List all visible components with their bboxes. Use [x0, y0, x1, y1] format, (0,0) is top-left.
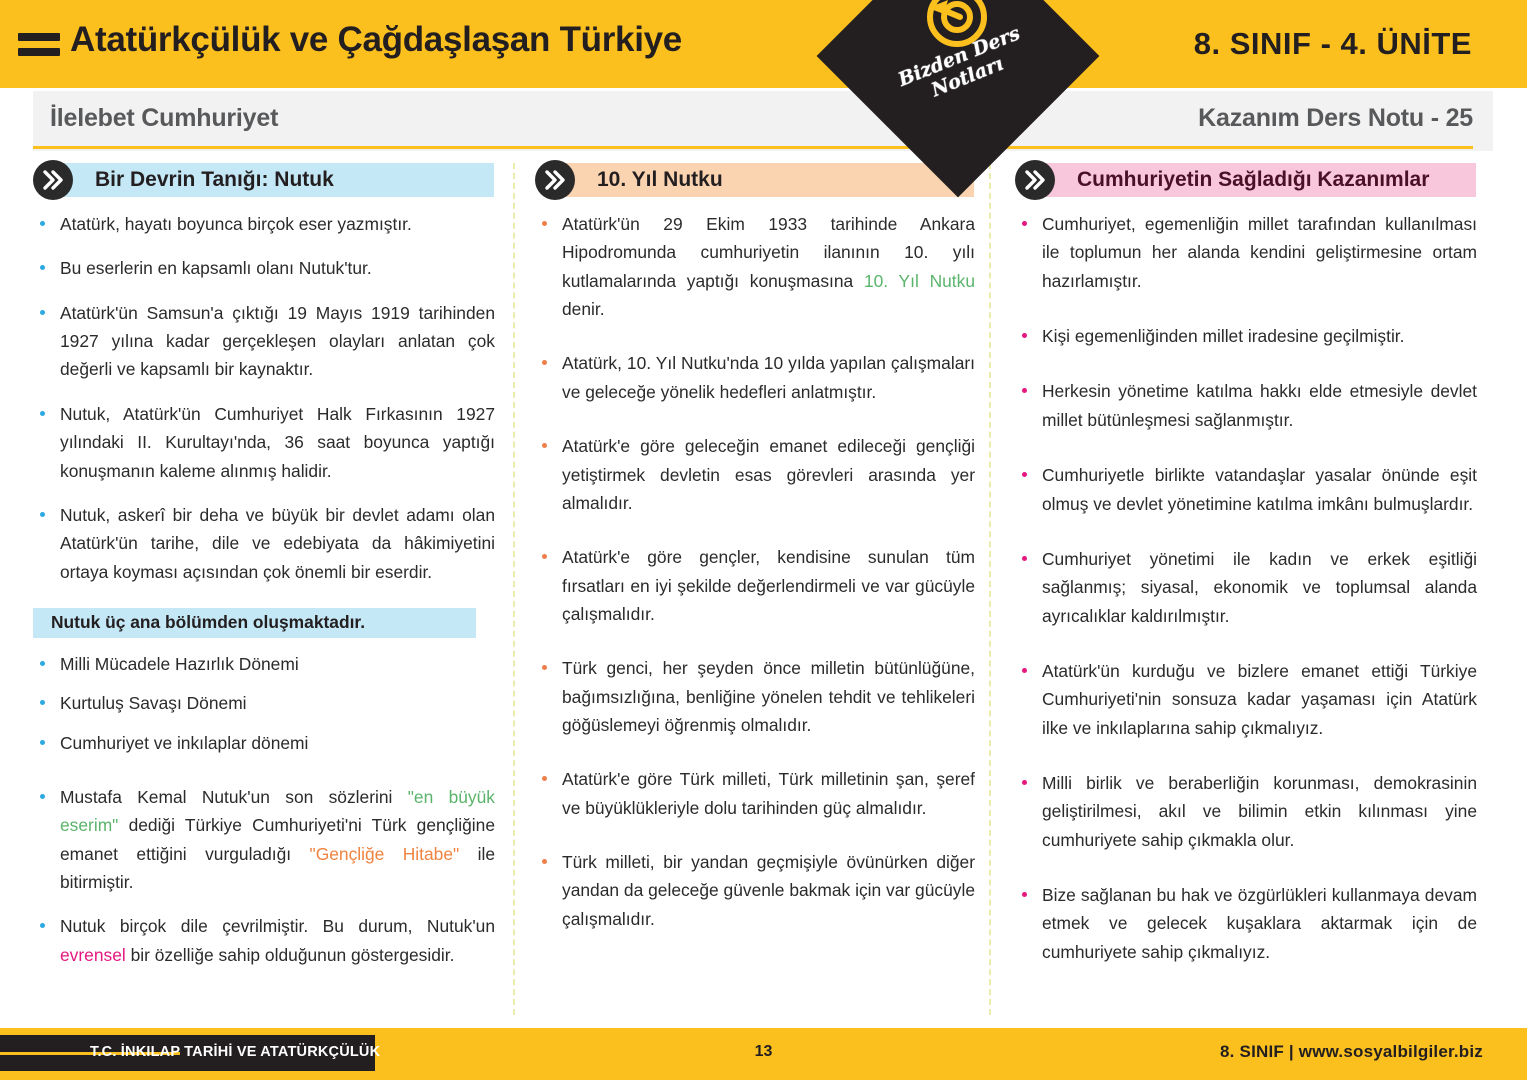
- list-item: Atatürk'ün 29 Ekim 1933 tarihinde Ankara…: [535, 210, 975, 323]
- section-title-10-yil: 10. Yıl Nutku: [559, 163, 974, 197]
- list-item: Atatürk'e göre gençler, kendisine sunula…: [535, 543, 975, 628]
- body-text: Atatürk, 10. Yıl Nutku'nda 10 yılda yapı…: [562, 353, 975, 401]
- list-item: Cumhuriyet, egemenliğin millet tarafında…: [1015, 210, 1477, 295]
- body-text: Atatürk'e göre gençler, kendisine sunula…: [562, 547, 975, 624]
- sub-header-bar: İlelebet Cumhuriyet Kazanım Ders Notu - …: [33, 91, 1493, 151]
- unit-label: 8. SINIF - 4. ÜNİTE: [1194, 26, 1472, 62]
- body-text: Atatürk'e göre geleceğin emanet edileceğ…: [562, 436, 975, 513]
- list-item: Milli Mücadele Hazırlık Dönemi: [33, 650, 495, 678]
- hamburger-icon: [18, 33, 60, 57]
- column-divider-2: [989, 163, 991, 1015]
- section-title-nutuk: Bir Devrin Tanığı: Nutuk: [57, 163, 494, 197]
- body-text: Mustafa Kemal Nutuk'un son sözlerini: [60, 787, 408, 807]
- section-header-kazanimlar: Cumhuriyetin Sağladığı Kazanımlar: [1015, 163, 1477, 197]
- body-text: bir özelliğe sahip olduğunun göstergesid…: [126, 945, 455, 965]
- section-nutuk: Bir Devrin Tanığı: Nutuk Atatürk, hayatı…: [33, 163, 495, 1018]
- body-text: Türk genci, her şeyden önce milletin büt…: [562, 658, 975, 735]
- list-item: Mustafa Kemal Nutuk'un son sözlerini "en…: [33, 783, 495, 896]
- column-divider-1: [513, 163, 515, 1015]
- lesson-note-number: Kazanım Ders Notu - 25: [1198, 104, 1473, 133]
- list-item: Atatürk'ün kurduğu ve bizlere emanet ett…: [1015, 657, 1477, 742]
- section-10-yil-nutku: 10. Yıl Nutku Atatürk'ün 29 Ekim 1933 ta…: [535, 163, 975, 1018]
- list-item: Atatürk'e göre Türk milleti, Türk millet…: [535, 765, 975, 822]
- nutuk-subheading: Nutuk üç ana bölümden oluşmaktadır.: [33, 608, 476, 638]
- list-item: Cumhuriyet ve inkılaplar dönemi: [33, 729, 495, 757]
- list-item: Milli birlik ve beraberliğin korunması, …: [1015, 769, 1477, 854]
- double-chevron-right-icon: [535, 160, 575, 200]
- list-item: Nutuk, Atatürk'ün Cumhuriyet Halk Fırkas…: [33, 400, 495, 485]
- body-text: denir.: [562, 299, 605, 319]
- 10-yil-bullet-list: Atatürk'ün 29 Ekim 1933 tarihinde Ankara…: [535, 210, 975, 933]
- list-item: Bu eserlerin en kapsamlı olanı Nutuk'tur…: [33, 254, 495, 282]
- list-item: Atatürk, 10. Yıl Nutku'nda 10 yılda yapı…: [535, 349, 975, 406]
- list-item: Kurtuluş Savaşı Dönemi: [33, 689, 495, 717]
- list-item: Herkesin yönetime katılma hakkı elde etm…: [1015, 377, 1477, 434]
- page-title: Atatürkçülük ve Çağdaşlaşan Türkiye: [70, 20, 682, 60]
- nutuk-bullet-list: Atatürk, hayatı boyunca birçok eser yazm…: [33, 210, 495, 586]
- list-item: Nutuk birçok dile çevrilmiştir. Bu durum…: [33, 912, 495, 969]
- list-item: Cumhuriyetle birlikte vatandaşlar yasala…: [1015, 461, 1477, 518]
- body-text: Türk milleti, bir yandan geçmişiyle övün…: [562, 852, 975, 929]
- body-text: Nutuk birçok dile çevrilmiştir. Bu durum…: [60, 916, 495, 936]
- section-kazanimlar: Cumhuriyetin Sağladığı Kazanımlar Cumhur…: [1015, 163, 1477, 1018]
- list-item: Atatürk'ün Samsun'a çıktığı 19 Mayıs 191…: [33, 299, 495, 384]
- lesson-subject: İlelebet Cumhuriyet: [50, 104, 278, 133]
- highlighted-text: evrensel: [60, 945, 126, 965]
- nutuk-closing-list: Mustafa Kemal Nutuk'un son sözlerini "en…: [33, 783, 495, 969]
- worksheet-page: Atatürkçülük ve Çağdaşlaşan Türkiye 8. S…: [0, 0, 1527, 1080]
- double-chevron-right-icon: [1015, 160, 1055, 200]
- section-header-nutuk: Bir Devrin Tanığı: Nutuk: [33, 163, 495, 197]
- list-item: Nutuk, askerî bir deha ve büyük bir devl…: [33, 501, 495, 586]
- top-header-bar: Atatürkçülük ve Çağdaşlaşan Türkiye 8. S…: [0, 0, 1527, 88]
- list-item: Atatürk, hayatı boyunca birçok eser yazm…: [33, 210, 495, 238]
- list-item: Atatürk'e göre geleceğin emanet edileceğ…: [535, 432, 975, 517]
- body-text: Atatürk'e göre Türk milleti, Türk millet…: [562, 769, 975, 817]
- footer-bar: T.C. İNKILAP TARİHİ VE ATATÜRKÇÜLÜK 13 8…: [0, 1028, 1527, 1080]
- list-item: Türk genci, her şeyden önce milletin büt…: [535, 654, 975, 739]
- list-item: Bize sağlanan bu hak ve özgürlükleri kul…: [1015, 881, 1477, 966]
- header-divider: [33, 146, 1473, 149]
- section-title-kazanimlar: Cumhuriyetin Sağladığı Kazanımlar: [1039, 163, 1476, 197]
- footer-site-label: 8. SINIF | www.sosyalbilgiler.biz: [1220, 1042, 1483, 1062]
- double-chevron-right-icon: [33, 160, 73, 200]
- section-header-10-yil: 10. Yıl Nutku: [535, 163, 975, 197]
- content-columns: Bir Devrin Tanığı: Nutuk Atatürk, hayatı…: [0, 163, 1527, 1018]
- nutuk-parts-list: Milli Mücadele Hazırlık Dönemi Kurtuluş …: [33, 650, 495, 757]
- highlighted-text: 10. Yıl Nutku: [864, 271, 975, 291]
- list-item: Cumhuriyet yönetimi ile kadın ve erkek e…: [1015, 545, 1477, 630]
- list-item: Türk milleti, bir yandan geçmişiyle övün…: [535, 848, 975, 933]
- highlighted-text: "Gençliğe Hitabe": [310, 844, 460, 864]
- list-item: Kişi egemenliğinden millet iradesine geç…: [1015, 322, 1477, 350]
- kazanimlar-bullet-list: Cumhuriyet, egemenliğin millet tarafında…: [1015, 210, 1477, 966]
